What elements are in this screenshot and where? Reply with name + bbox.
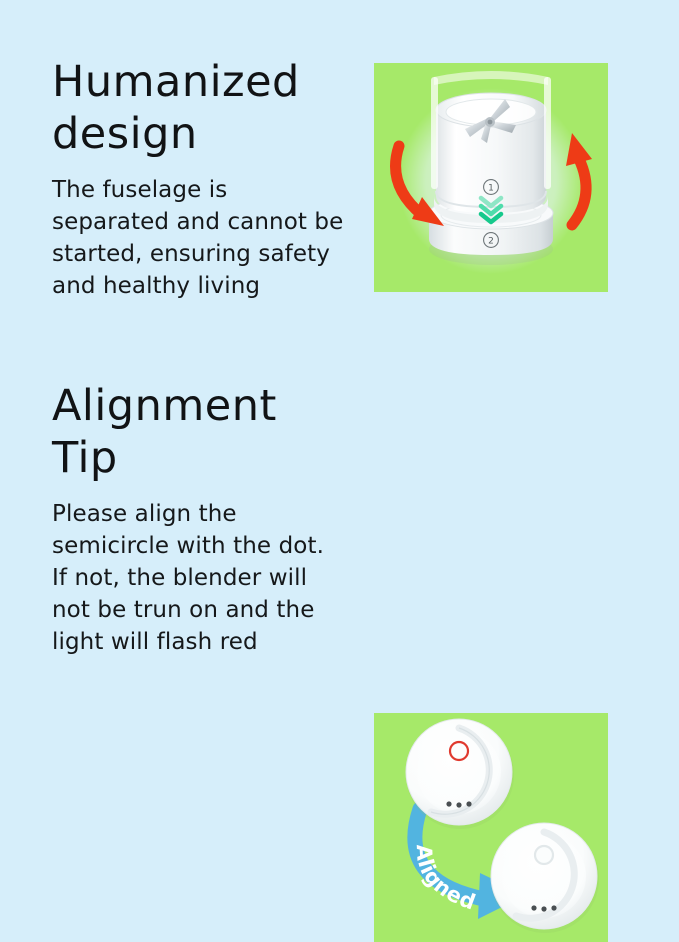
alignment-illustration-panel: Aligned <box>374 713 608 942</box>
blender-cup <box>431 71 551 223</box>
svg-text:2: 2 <box>488 237 494 247</box>
blender-base-misaligned <box>406 719 514 829</box>
aligned-arrow-label: Aligned <box>412 844 479 915</box>
humanized-body-text: The fuselage is separated and cannot be … <box>52 174 372 302</box>
alignment-text-column: Alignment Tip Please align the semicircl… <box>52 380 372 658</box>
indicator-light-red <box>450 742 468 760</box>
indicator-light-neutral <box>535 846 553 864</box>
alignment-body-text: Please align the semicircle with the dot… <box>52 498 372 658</box>
section-humanized-design: Humanized design The fuselage is separat… <box>0 0 679 340</box>
infographic-page: Humanized design The fuselage is separat… <box>0 0 679 679</box>
humanized-text-column: Humanized design The fuselage is separat… <box>52 56 372 302</box>
humanized-heading: Humanized design <box>52 56 372 160</box>
svg-text:1: 1 <box>488 184 494 194</box>
alignment-heading: Alignment Tip <box>52 380 372 484</box>
blender-base-aligned <box>491 823 599 933</box>
section-alignment-tip: Alignment Tip Please align the semicircl… <box>0 325 679 679</box>
humanized-illustration-panel: 1 2 <box>374 63 608 292</box>
